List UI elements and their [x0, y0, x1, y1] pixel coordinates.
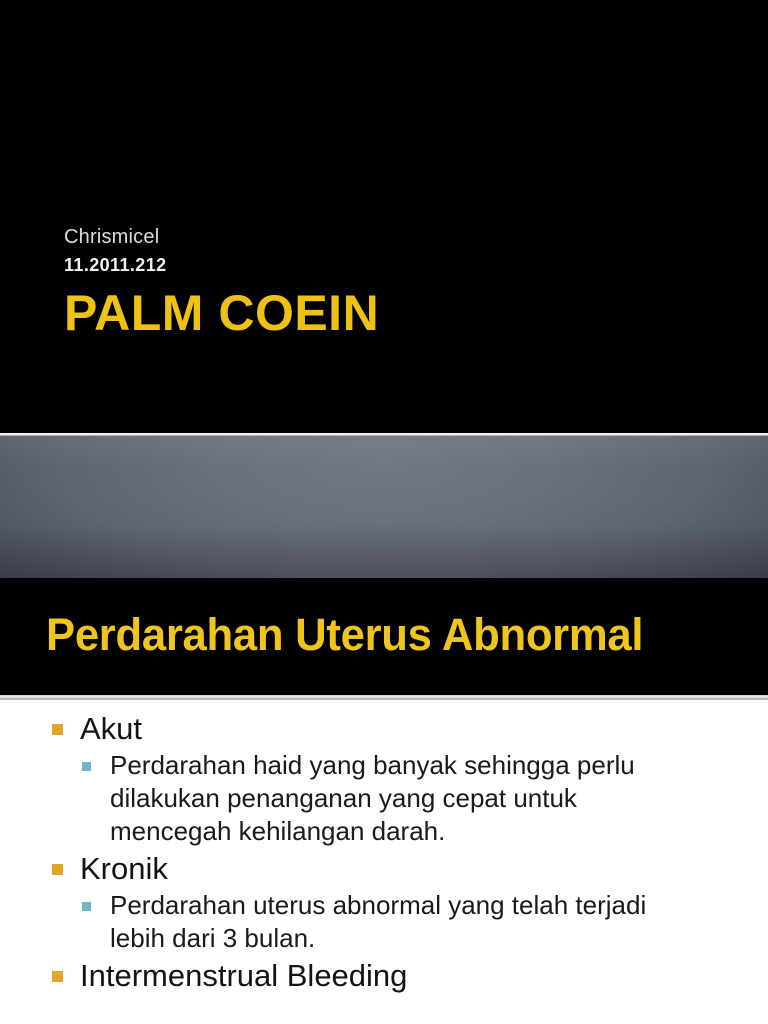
sub-bullet-text: Perdarahan haid yang banyak sehingga per… [110, 750, 635, 846]
author-name: Chrismicel [64, 224, 724, 250]
body-content-area: Akut Perdarahan haid yang banyak sehingg… [0, 708, 768, 1024]
slide-content-page: Perdarahan Uterus Abnormal Akut Perdarah… [0, 436, 768, 1024]
bullet-label: Intermenstrual Bleeding [80, 958, 407, 993]
square-bullet-icon [52, 724, 63, 735]
sub-bullet-list: Perdarahan uterus abnormal yang telah te… [80, 889, 748, 955]
list-item: Perdarahan haid yang banyak sehingga per… [80, 749, 748, 848]
heading-band: Perdarahan Uterus Abnormal [0, 578, 768, 695]
sub-bullet-list: Perdarahan haid yang banyak sehingga per… [80, 749, 748, 848]
header-gradient-band [0, 436, 768, 578]
slide-deck: Chrismicel 11.2011.212 PALM COEIN Perdar… [0, 0, 768, 1024]
band-divider-lower [0, 698, 768, 700]
author-id: 11.2011.212 [64, 252, 724, 278]
square-sub-bullet-icon [82, 902, 91, 911]
slide-heading: Perdarahan Uterus Abnormal [46, 608, 643, 662]
deck-title: PALM COEIN [64, 284, 724, 342]
bullet-label: Kronik [80, 851, 168, 886]
list-item: Perdarahan uterus abnormal yang telah te… [80, 889, 748, 955]
slide-title-page: Chrismicel 11.2011.212 PALM COEIN [0, 0, 768, 433]
list-item: Intermenstrual Bleeding [0, 955, 768, 996]
list-item: Akut Perdarahan haid yang banyak sehingg… [0, 708, 768, 848]
sub-bullet-text: Perdarahan uterus abnormal yang telah te… [110, 890, 646, 953]
square-bullet-icon [52, 864, 63, 875]
square-sub-bullet-icon [82, 762, 91, 771]
title-block: Chrismicel 11.2011.212 PALM COEIN [64, 224, 724, 342]
list-item: Kronik Perdarahan uterus abnormal yang t… [0, 848, 768, 955]
square-bullet-icon [52, 971, 63, 982]
bullet-list: Akut Perdarahan haid yang banyak sehingg… [0, 708, 768, 996]
bullet-label: Akut [80, 711, 142, 746]
